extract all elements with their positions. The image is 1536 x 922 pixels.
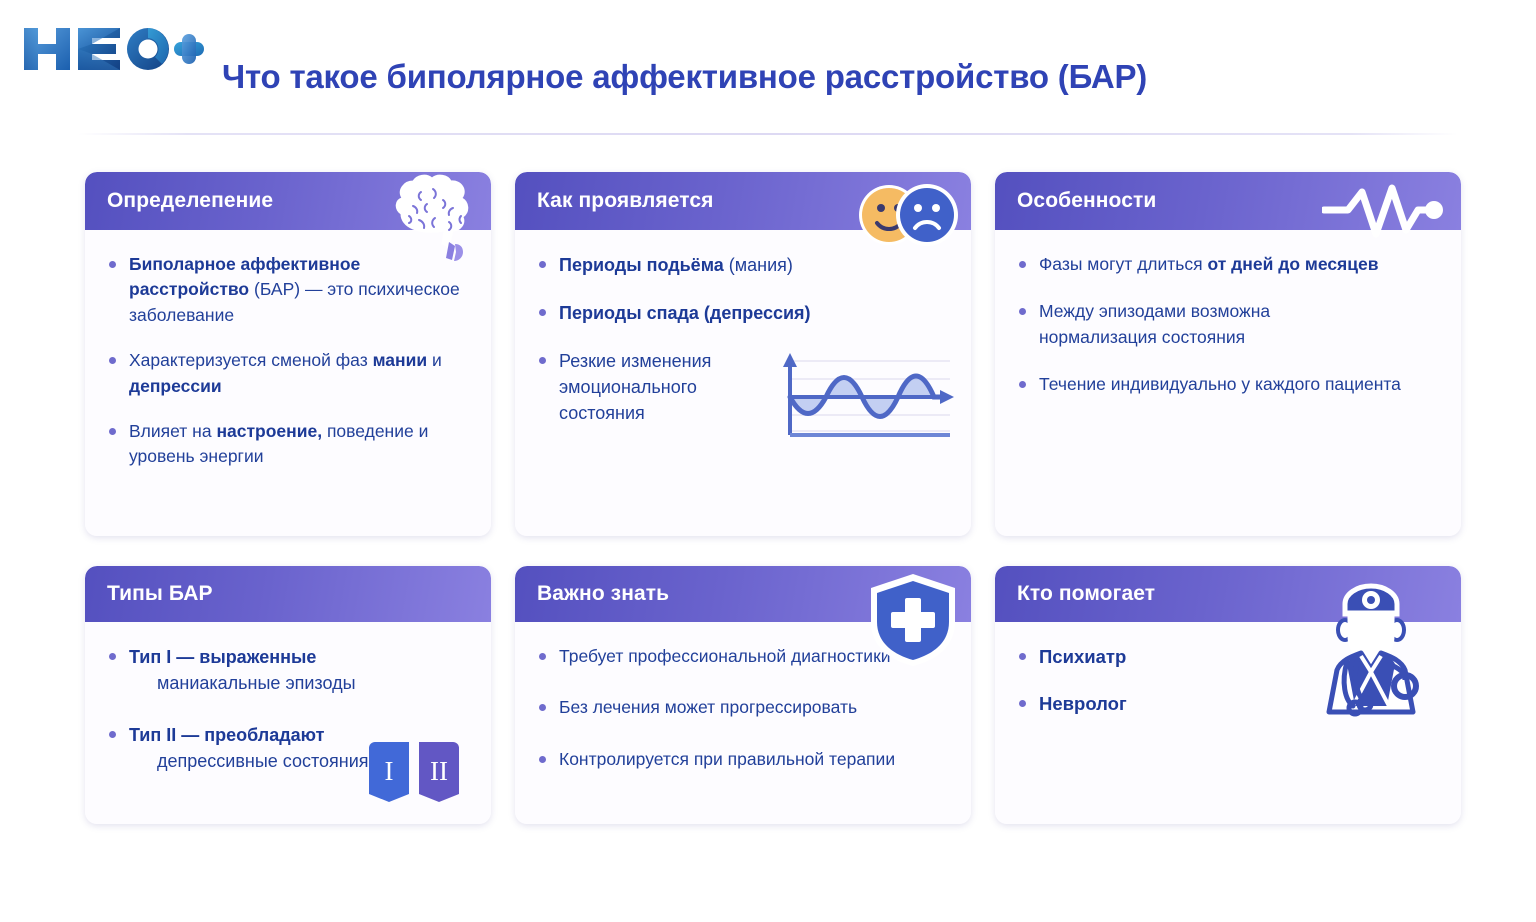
bullet-list: Требует профессиональной диагностики Без… <box>537 644 951 772</box>
card-types: Типы БАР Тип I — выраженные маниакальные… <box>85 566 491 824</box>
bullet-lead: Требует профессиональной диагностики <box>559 646 891 666</box>
list-item: Невролог <box>1017 691 1441 718</box>
bullet-lead: Контролируется при правильной терапии <box>559 749 895 769</box>
card-body: Требует профессиональной диагностики Без… <box>515 622 971 808</box>
card-title: Кто помогает <box>1017 582 1155 606</box>
list-item: Фазы могут длиться от дней до месяцев <box>1017 252 1441 277</box>
bullet-bold-lead: Тип I — выраженные <box>129 647 316 667</box>
card-body: Психиатр Невролог <box>995 622 1461 748</box>
header-divider <box>78 133 1458 135</box>
bullet-lead: Фазы могут длиться <box>1039 254 1208 274</box>
badge-one-label: I <box>385 756 394 786</box>
bullet-rest: (мания) <box>724 255 793 275</box>
bullet-bold-2: депрессии <box>129 376 222 396</box>
list-item: Резкие изменения эмоционального состояни… <box>537 348 777 426</box>
card-features: Особенности Фазы могут длиться от дней д… <box>995 172 1461 536</box>
bullet-subline: маниакальные эпизоды <box>129 670 471 696</box>
bullet-bold: мании <box>373 350 428 370</box>
bullet-list: Фазы могут длиться от дней до месяцев Ме… <box>1017 252 1441 398</box>
card-important: Важно знать Требует профессиональной диа… <box>515 566 971 824</box>
card-header-types: Типы БАР <box>85 566 491 622</box>
card-header-features: Особенности <box>995 172 1461 230</box>
card-title: Особенности <box>1017 189 1156 213</box>
page-title: Что такое биполярное аффективное расстро… <box>222 58 1147 96</box>
badge-two-label: II <box>430 756 448 786</box>
type-badges-icon: I II <box>365 742 463 804</box>
card-title: Определепение <box>107 189 273 213</box>
bullet-bold-lead: Невролог <box>1039 693 1127 714</box>
card-header-important: Важно знать <box>515 566 971 622</box>
bullet-bold-lead: Психиатр <box>1039 646 1126 667</box>
card-header-definition: Определепение <box>85 172 491 230</box>
card-definition: Определепение Биполарное аффективное рас… <box>85 172 491 536</box>
card-header-manifestation: Как проявляется <box>515 172 971 230</box>
list-item: Течение индивидуально у каждого пациента <box>1017 372 1441 397</box>
bullet-lead: Характеризуется сменой фаз <box>129 350 373 370</box>
bullet-bold-lead: Периоды спада (депрессия) <box>559 303 811 323</box>
list-item: Контролируется при правильной терапии <box>537 747 951 772</box>
list-item: Тип I — выраженные маниакальные эпизоды <box>107 644 471 696</box>
card-who-helps: Кто помогает Психиатр Невролог <box>995 566 1461 824</box>
card-title: Типы БАР <box>107 582 213 606</box>
mood-wave-chart-icon <box>772 349 957 444</box>
bullet-bold: настроение, <box>216 421 322 441</box>
list-item: Между эпизодами возможна нормализация со… <box>1017 299 1337 350</box>
list-item: Характеризуется сменой фаз мании и депре… <box>107 348 471 399</box>
list-item: Без лечения может прогрессировать <box>537 695 951 720</box>
bullet-bold-lead: Тип II — преобладают <box>129 725 324 745</box>
list-item: Влияет на настроение, поведение и уровен… <box>107 419 471 470</box>
bullet-lead: Между эпизодами возможна нормализация со… <box>1039 301 1270 346</box>
list-item: Периоды подьёма (мания) <box>537 252 951 278</box>
bullet-lead: Резкие изменения эмоционального состояни… <box>559 351 711 423</box>
bullet-conj: и <box>427 350 442 370</box>
card-title: Важно знать <box>537 582 669 606</box>
card-body: Фазы могут длиться от дней до месяцев Ме… <box>995 230 1461 430</box>
bullet-bold: от дней до месяцев <box>1208 254 1379 274</box>
bullet-list: Биполарное аффективное расстройство (БАР… <box>107 252 471 470</box>
card-body: Биполарное аффективное расстройство (БАР… <box>85 230 491 500</box>
neo-plus-logo <box>18 20 204 76</box>
list-item: Биполарное аффективное расстройство (БАР… <box>107 252 471 328</box>
card-manifestation: Как проявляется Периоды подьёма (мания) … <box>515 172 971 536</box>
list-item: Требует профессиональной диагностики <box>537 644 951 669</box>
bullet-bold-lead: Периоды подьёма <box>559 255 724 275</box>
infographic-page: Что такое биполярное аффективное расстро… <box>0 0 1536 922</box>
bullet-lead: Без лечения может прогрессировать <box>559 697 857 717</box>
cards-grid: Определепение Биполарное аффективное рас… <box>85 172 1459 824</box>
list-item: Периоды спада (депрессия) <box>537 300 951 326</box>
page-header: Что такое биполярное аффективное расстро… <box>0 0 1536 130</box>
card-header-who-helps: Кто помогает <box>995 566 1461 622</box>
list-item: Психиатр <box>1017 644 1441 671</box>
bullet-lead: Влияет на <box>129 421 216 441</box>
bullet-list: Психиатр Невролог <box>1017 644 1441 718</box>
card-title: Как проявляется <box>537 189 713 213</box>
bullet-lead: Течение индивидуально у каждого пациента <box>1039 374 1401 394</box>
